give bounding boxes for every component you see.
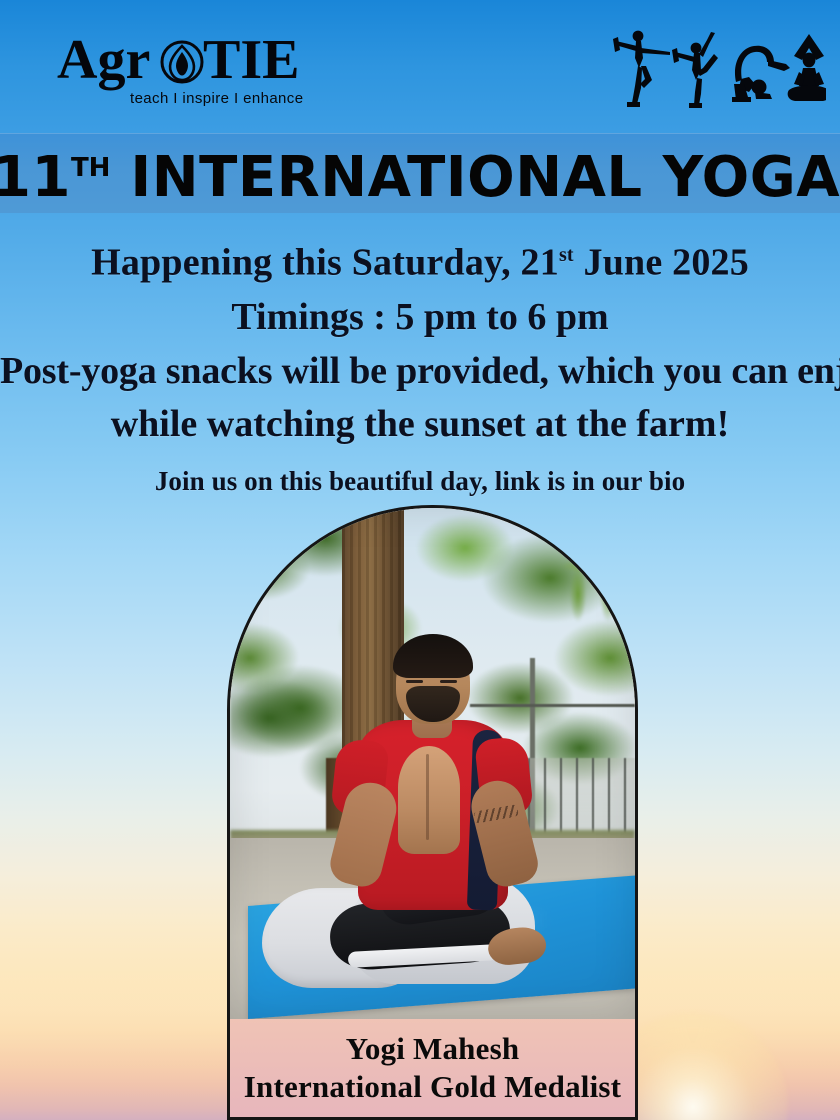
flame-droplet-emblem-icon [160,40,204,84]
event-date-line: Happening this Saturday, 21st June 2025 [0,229,840,289]
poster-header: Agr TIE teach I inspire I enhance [0,0,840,133]
speaker-subtitle: International Gold Medalist [244,1068,621,1106]
agrotie-logo: Agr TIE teach I inspire I enhance [55,24,305,108]
speaker-photo-frame: Yogi Mahesh International Gold Medalist [227,505,638,1120]
title-banner: 11TH INTERNATIONAL YOGA DAY [0,133,840,213]
event-sunset-line: while watching the sunset at the farm! [0,397,840,451]
title-main-text: INTERNATIONAL YOGA DAY [110,145,840,210]
event-date-prefix: Happening this Saturday, 21 [91,242,559,284]
yoga-day-poster: Agr TIE teach I inspire I enhance [0,0,840,1120]
page-title: 11TH INTERNATIONAL YOGA DAY [0,139,840,207]
yoga-pose-icon-group [608,24,826,110]
speaker-caption: Yogi Mahesh International Gold Medalist [230,1019,635,1117]
event-details-text: Happening this Saturday, 21st June 2025 … [0,229,840,505]
event-cta-line: Join us on this beautiful day, link is i… [0,457,840,505]
event-date-month-year: June 2025 [574,242,749,284]
title-ordinal-suffix: TH [71,153,111,183]
event-snacks-line: Post-yoga snacks will be provided, which… [0,345,840,397]
speaker-name: Yogi Mahesh [346,1030,520,1068]
event-timings-line: Timings : 5 pm to 6 pm [0,289,840,345]
logo-tagline: teach I inspire I enhance [130,90,303,107]
logo-wordmark-tie: TIE [203,28,300,92]
title-ordinal: 11 [0,145,71,210]
photo-vignette [230,508,635,1019]
speaker-photo [230,508,635,1019]
event-date-ordinal-suffix: st [559,244,574,266]
logo-wordmark-agro: Agr [57,28,150,92]
